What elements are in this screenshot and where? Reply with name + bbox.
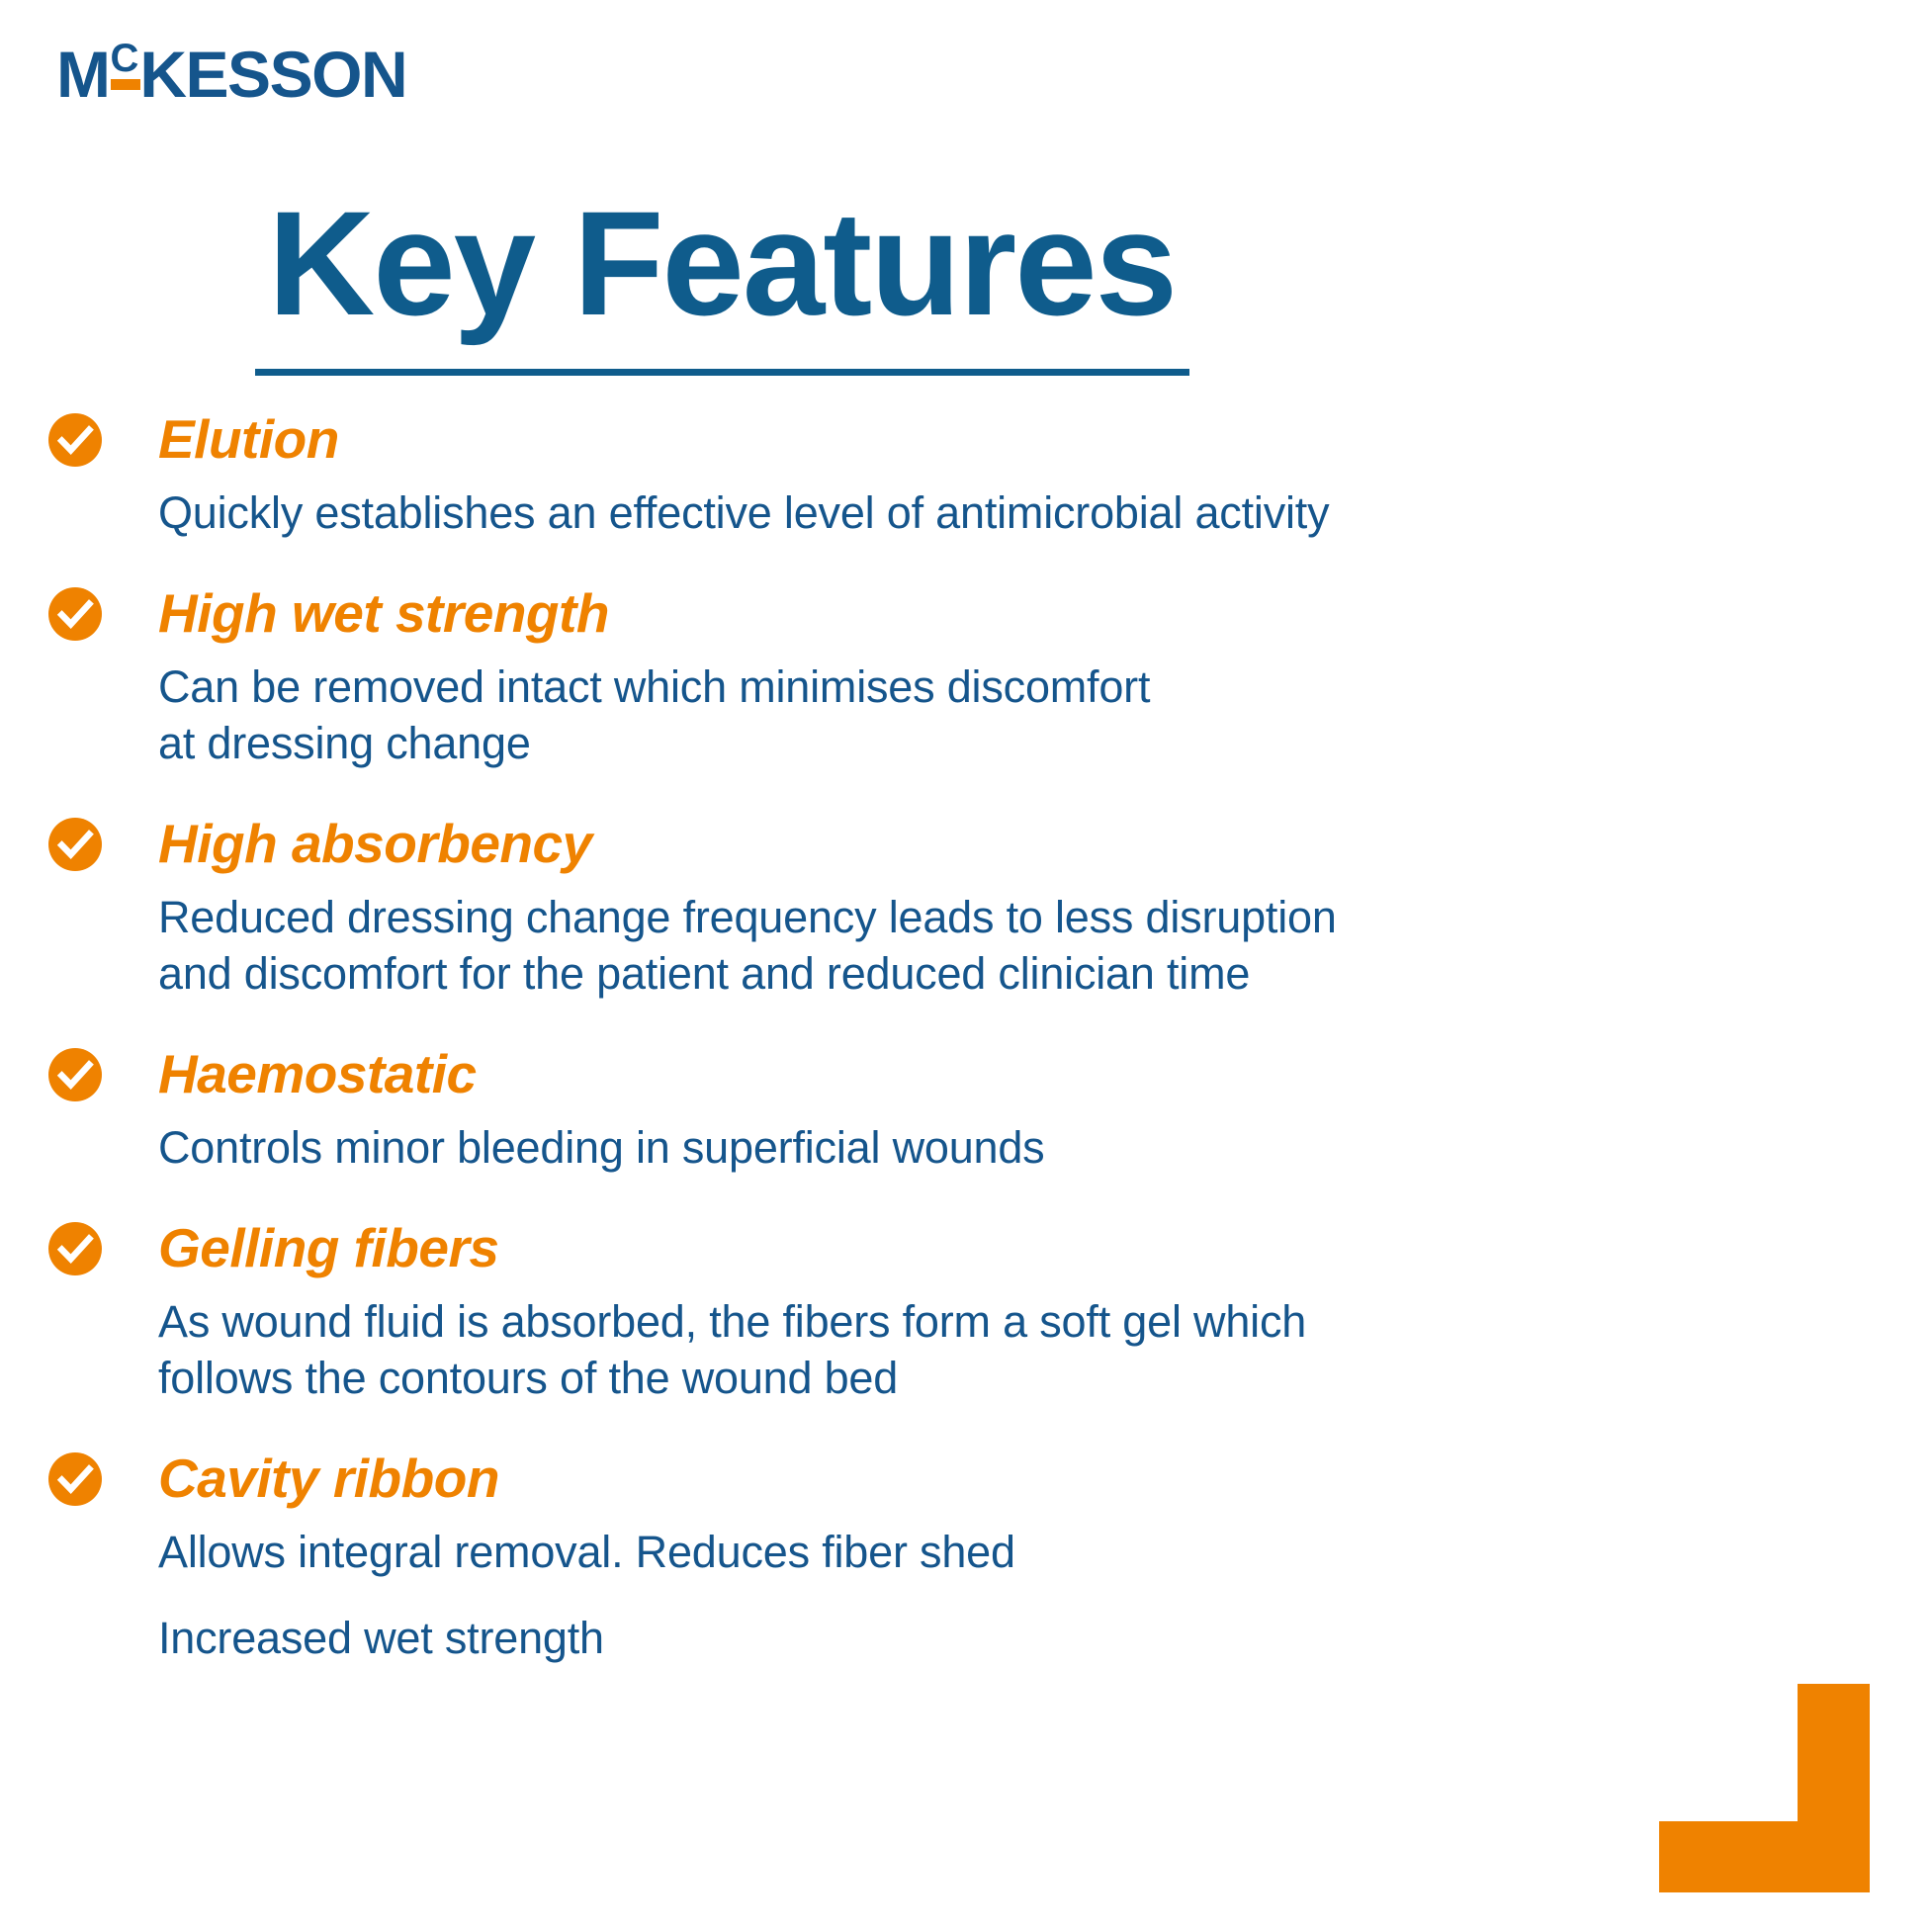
logo-superscript-c: C (110, 39, 138, 78)
feature-description: Can be removed intact which minimises di… (158, 659, 1572, 772)
feature-title: Gelling fibers (158, 1220, 498, 1277)
feature-item: Cavity ribbonAllows integral removal. Re… (0, 1449, 1582, 1667)
title-underline-rule (255, 369, 1189, 376)
feature-description-line: Reduced dressing change frequency leads … (158, 889, 1572, 946)
feature-heading: Gelling fibers (158, 1218, 1582, 1283)
mckesson-logo: M C KESSON (56, 42, 406, 107)
logo-rest-letters: KESSON (139, 42, 406, 107)
feature-description: Allows integral removal. Reduces fiber s… (158, 1524, 1572, 1667)
feature-heading: Cavity ribbon (158, 1449, 1582, 1514)
feature-heading: Elution (158, 409, 1582, 475)
feature-item: Gelling fibersAs wound fluid is absorbed… (0, 1218, 1582, 1407)
feature-description: Reduced dressing change frequency leads … (158, 889, 1572, 1003)
logo-orange-underbar-icon (111, 79, 140, 90)
feature-title: Haemostatic (158, 1046, 477, 1103)
feature-title: Cavity ribbon (158, 1450, 499, 1508)
feature-heading: Haemostatic (158, 1044, 1582, 1109)
feature-title: High wet strength (158, 585, 609, 643)
feature-description-line: and discomfort for the patient and reduc… (158, 945, 1572, 1003)
feature-item: ElutionQuickly establishes an effective … (0, 409, 1582, 542)
logo-superscript-wrap: C (110, 42, 138, 81)
page-title-block: Key Features (0, 188, 1444, 376)
feature-description: Controls minor bleeding in superficial w… (158, 1119, 1572, 1177)
check-circle-icon (48, 1452, 102, 1506)
feature-description: As wound fluid is absorbed, the fibers f… (158, 1293, 1572, 1407)
feature-description-line: As wound fluid is absorbed, the fibers f… (158, 1293, 1572, 1351)
corner-mark-horizontal-bar (1659, 1821, 1870, 1892)
feature-title: Elution (158, 411, 339, 469)
feature-description-line: Quickly establishes an effective level o… (158, 484, 1572, 542)
check-circle-icon (48, 587, 102, 641)
check-circle-icon (48, 1222, 102, 1275)
feature-description-line: Increased wet strength (158, 1610, 1572, 1667)
feature-description-line: follows the contours of the wound bed (158, 1350, 1572, 1407)
feature-description-line: Allows integral removal. Reduces fiber s… (158, 1524, 1572, 1581)
feature-heading: High absorbency (158, 814, 1582, 879)
feature-description-line: Controls minor bleeding in superficial w… (158, 1119, 1572, 1177)
logo-lead-letter: M (56, 42, 109, 107)
feature-description-line: at dressing change (158, 715, 1572, 772)
orange-corner-mark-icon (1659, 1684, 1870, 1892)
feature-title: High absorbency (158, 816, 592, 873)
page-title: Key Features (268, 188, 1176, 339)
feature-item: High wet strengthCan be removed intact w… (0, 583, 1582, 772)
check-circle-icon (48, 413, 102, 467)
check-circle-icon (48, 818, 102, 871)
feature-heading: High wet strength (158, 583, 1582, 649)
feature-description: Quickly establishes an effective level o… (158, 484, 1572, 542)
feature-list: ElutionQuickly establishes an effective … (0, 409, 1582, 1709)
feature-item: HaemostaticControls minor bleeding in su… (0, 1044, 1582, 1177)
feature-description-line: Can be removed intact which minimises di… (158, 659, 1572, 716)
check-circle-icon (48, 1048, 102, 1101)
feature-item: High absorbencyReduced dressing change f… (0, 814, 1582, 1003)
